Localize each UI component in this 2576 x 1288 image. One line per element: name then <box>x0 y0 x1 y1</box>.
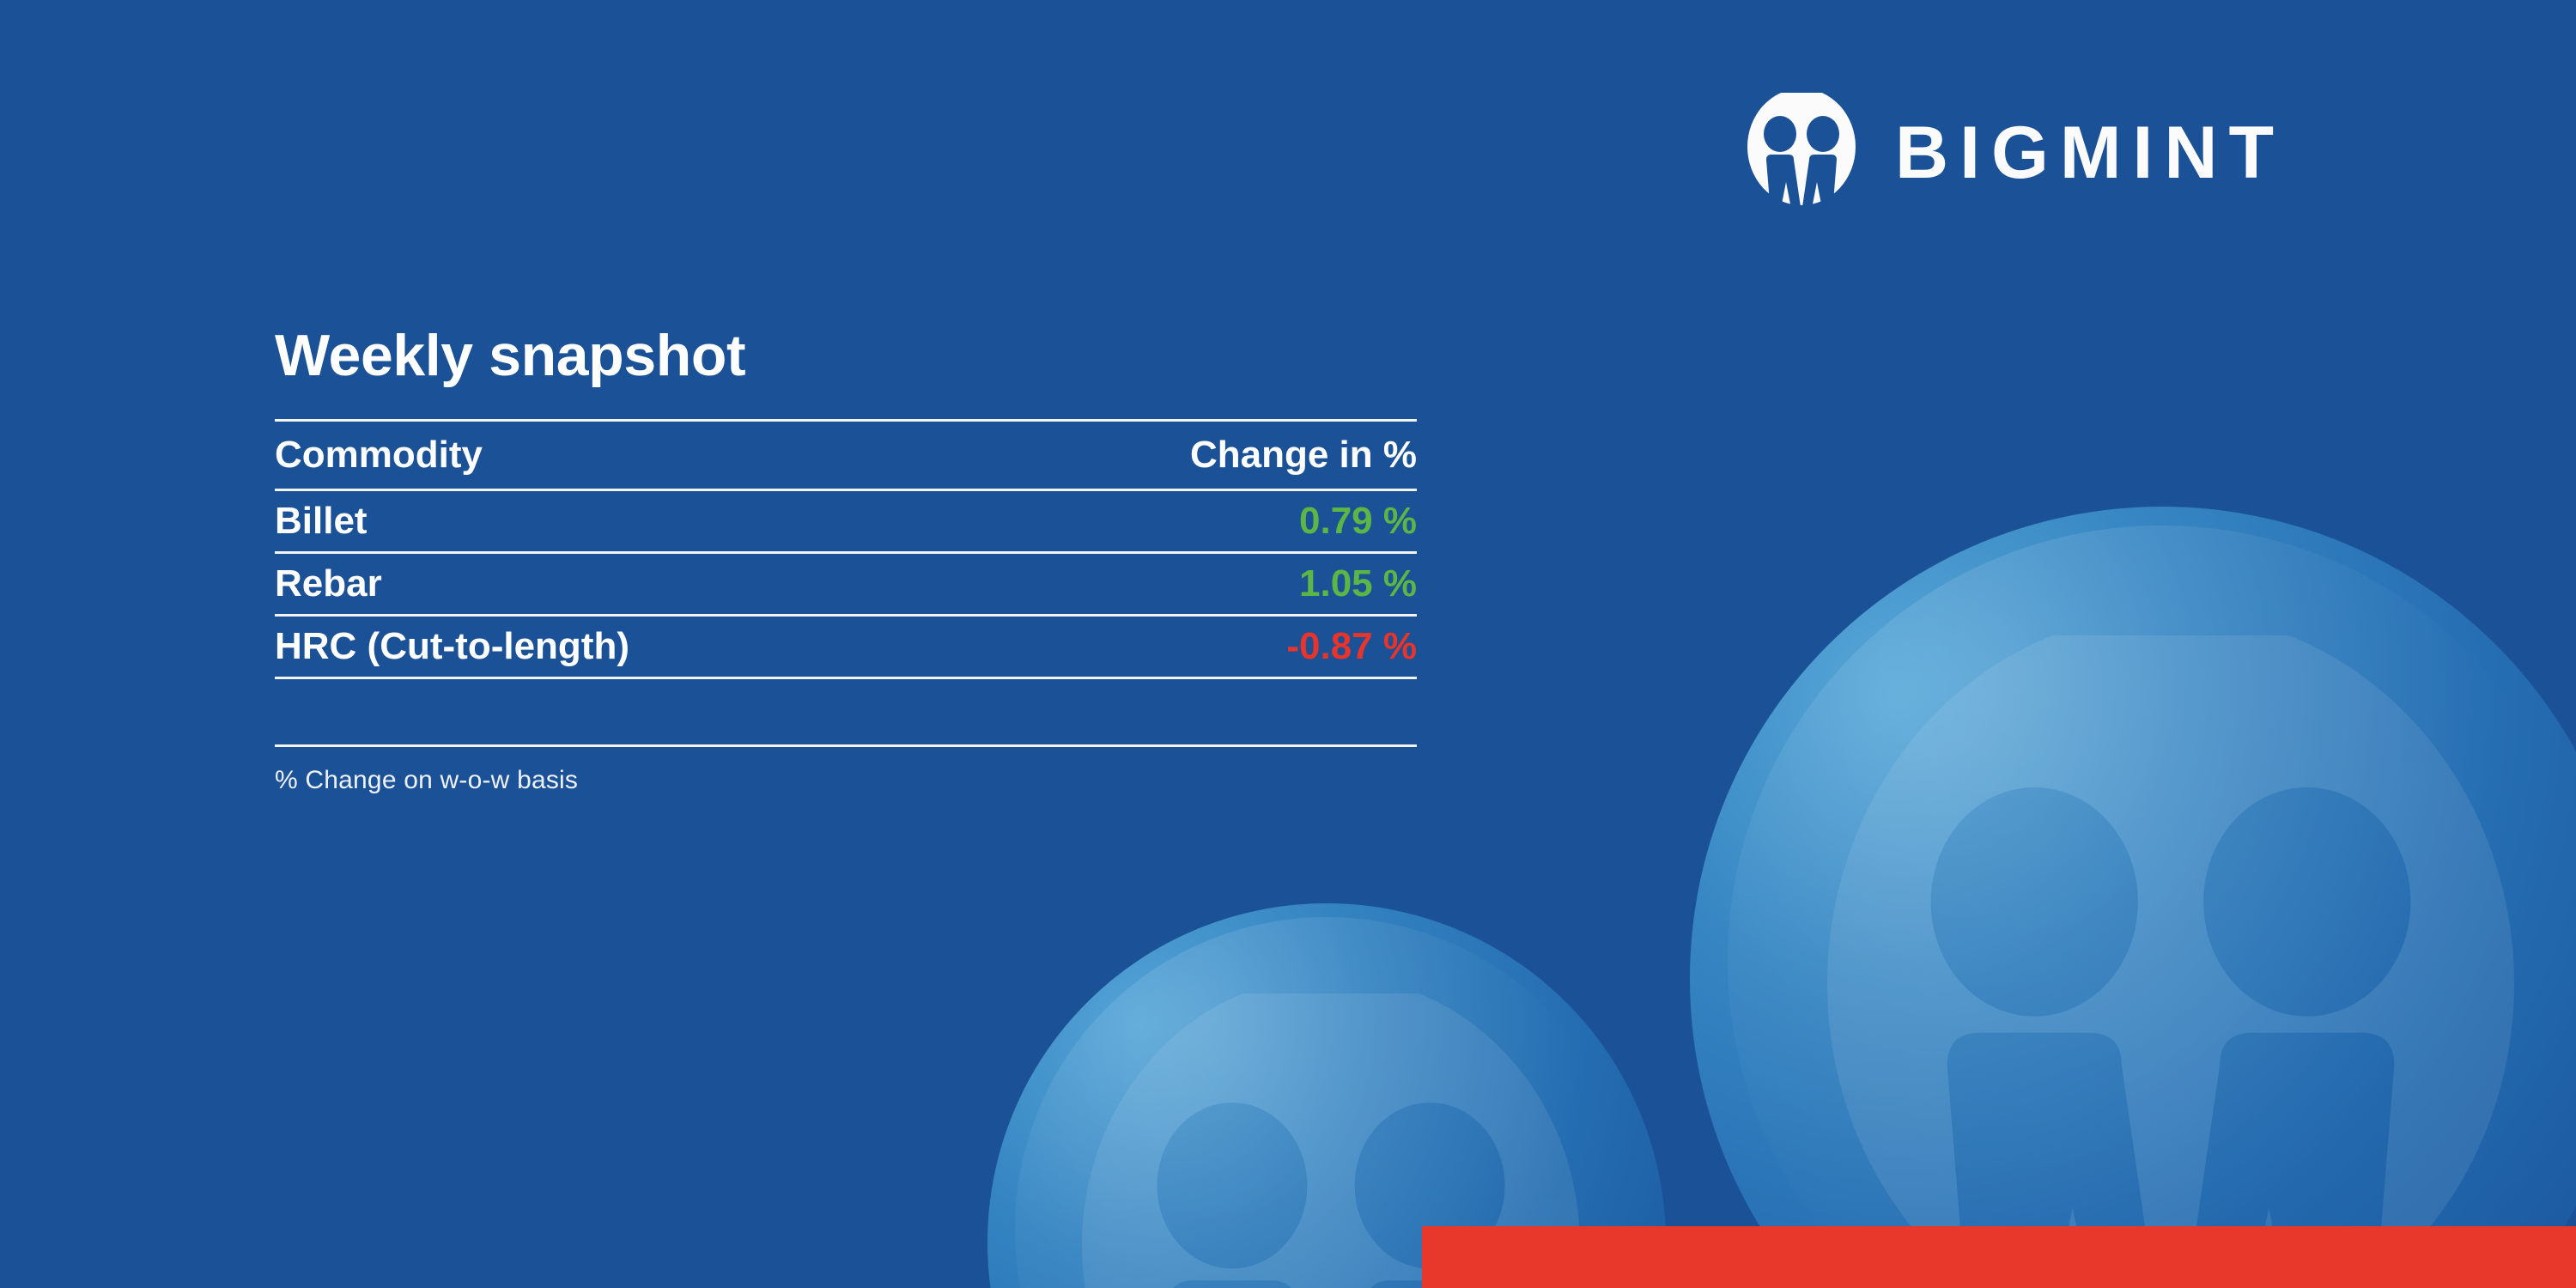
column-header-change: Change in % <box>846 421 1417 490</box>
decorative-sphere-large <box>1690 507 2576 1288</box>
weekly-snapshot-table: Commodity Change in % Billet 0.79 % Reba… <box>275 419 1417 747</box>
cell-change: -0.87 % <box>846 616 1417 678</box>
cell-change: 0.79 % <box>846 490 1417 553</box>
snapshot-panel: Weekly snapshot Commodity Change in % Bi… <box>275 326 1417 795</box>
spacer-cell <box>846 678 1417 746</box>
cell-commodity: Billet <box>275 490 846 553</box>
cell-commodity: HRC (Cut-to-length) <box>275 616 846 678</box>
table-spacer-row <box>275 678 1417 746</box>
table-row[interactable]: HRC (Cut-to-length) -0.87 % <box>275 616 1417 678</box>
bigmint-watermark-icon <box>1827 635 2514 1288</box>
bigmint-mark-icon <box>1747 93 1856 213</box>
column-header-commodity: Commodity <box>275 421 846 490</box>
page-title: Weekly snapshot <box>275 326 1417 385</box>
accent-bar-red <box>1422 1226 2576 1288</box>
cell-change: 1.05 % <box>846 553 1417 616</box>
brand-wordmark: BIGMINT <box>1895 116 2285 190</box>
weekly-snapshot-card: BIGMINT Weekly snapshot Commodity Change… <box>0 0 2576 1288</box>
brand-logo: BIGMINT <box>1747 93 2285 213</box>
cell-commodity: Rebar <box>275 553 846 616</box>
spacer-cell <box>275 678 846 746</box>
table-header-row: Commodity Change in % <box>275 421 1417 490</box>
table-footnote: % Change on w-o-w basis <box>275 766 1417 795</box>
table-row[interactable]: Billet 0.79 % <box>275 490 1417 553</box>
table-row[interactable]: Rebar 1.05 % <box>275 553 1417 616</box>
